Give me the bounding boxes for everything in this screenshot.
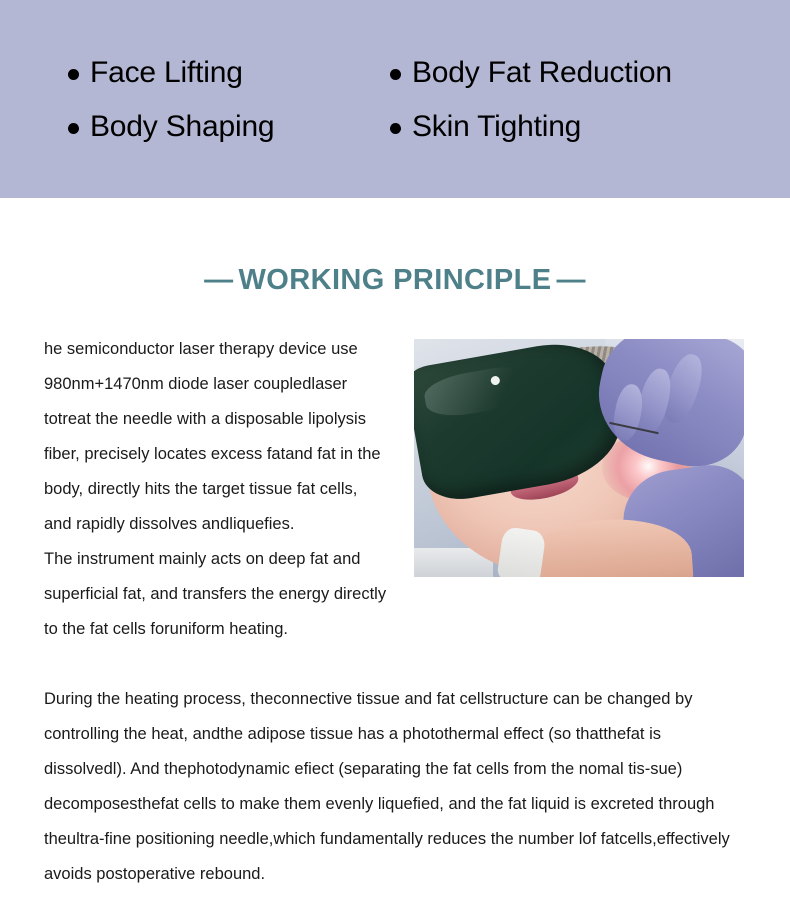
photo-canvas (414, 339, 744, 577)
goggles-sheen (422, 361, 540, 421)
feature-label: Face Lifting (90, 58, 243, 88)
feature-label: Body Fat Reduction (412, 58, 672, 88)
feature-item-body-fat-reduction: Body Fat Reduction (322, 46, 790, 100)
working-principle-article: he semiconductor laser therapy device us… (44, 332, 744, 892)
feature-item-face-lifting: Face Lifting (0, 46, 322, 100)
em-dash-right-icon: — (556, 264, 585, 297)
section-heading-text: WORKING PRINCIPLE (234, 264, 557, 297)
em-dash-left-icon: — (204, 264, 233, 297)
feature-list: Face Lifting Body Fat Reduction Body Sha… (0, 46, 790, 154)
section-heading: —WORKING PRINCIPLE— (0, 264, 790, 297)
round-bullet-icon (390, 69, 401, 80)
feature-item-body-shaping: Body Shaping (0, 100, 322, 154)
round-bullet-icon (68, 123, 79, 134)
article-paragraph-3: During the heating process, theconnectiv… (44, 682, 744, 892)
article-paragraph-1: he semiconductor laser therapy device us… (44, 332, 384, 542)
patient-laser-treatment-photo (414, 339, 744, 577)
feature-item-skin-tighting: Skin Tighting (322, 100, 790, 154)
round-bullet-icon (390, 123, 401, 134)
round-bullet-icon (68, 69, 79, 80)
feature-label: Body Shaping (90, 112, 274, 142)
feature-banner: Face Lifting Body Fat Reduction Body Sha… (0, 0, 790, 198)
gauze-pad (496, 527, 546, 577)
feature-label: Skin Tighting (412, 112, 581, 142)
